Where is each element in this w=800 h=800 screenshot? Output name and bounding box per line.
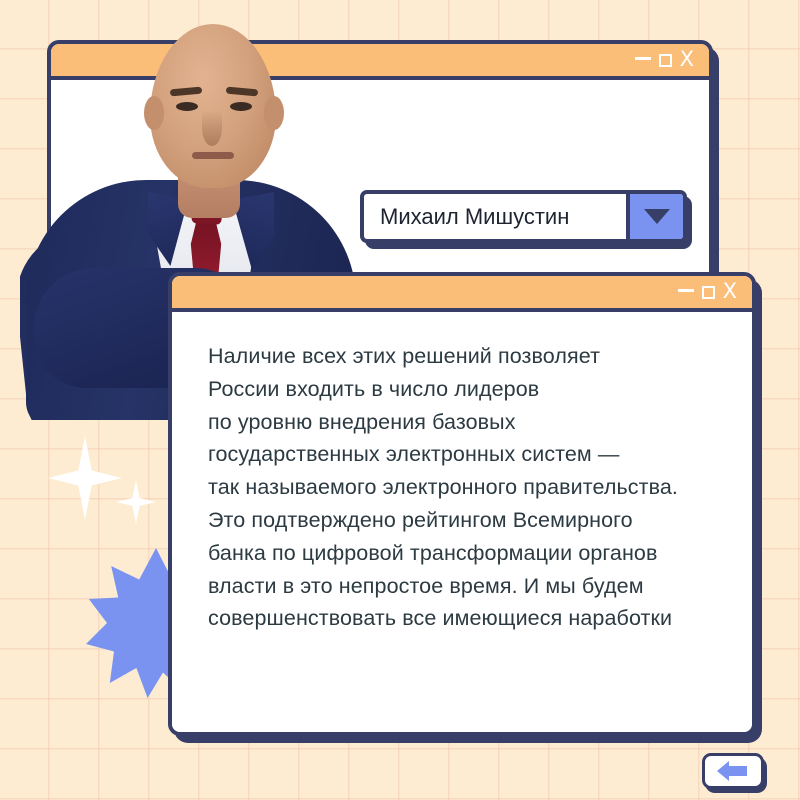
maximize-icon[interactable] <box>702 286 715 299</box>
back-button[interactable] <box>702 753 764 789</box>
minimize-icon[interactable] <box>678 289 694 292</box>
photo-window-titlebar: X <box>51 44 709 80</box>
back-button-frame[interactable] <box>702 753 764 789</box>
dropdown-frame[interactable]: Михаил Мишустин <box>360 190 687 243</box>
minimize-icon[interactable] <box>635 57 651 60</box>
close-icon[interactable]: X <box>680 49 695 70</box>
window-frame: X <box>47 40 713 310</box>
quote-text: Наличие всех этих решений позволяет Росс… <box>208 340 726 635</box>
dropdown-selected-value[interactable]: Михаил Мишустин <box>364 194 626 239</box>
window-controls[interactable]: X <box>678 283 738 302</box>
photo-window: X <box>47 40 713 310</box>
arrow-left-icon[interactable] <box>717 761 749 781</box>
dropdown-toggle-button[interactable] <box>626 194 683 239</box>
quote-window-body: Наличие всех этих решений позволяет Росс… <box>172 312 752 732</box>
chevron-down-icon[interactable] <box>644 209 670 224</box>
window-controls[interactable]: X <box>635 51 695 70</box>
close-icon[interactable]: X <box>723 281 738 302</box>
name-dropdown[interactable]: Михаил Мишустин <box>360 190 687 243</box>
window-frame: X Наличие всех этих решений позволяет Ро… <box>168 272 756 736</box>
quote-window: X Наличие всех этих решений позволяет Ро… <box>168 272 756 736</box>
quote-window-titlebar: X <box>172 276 752 312</box>
maximize-icon[interactable] <box>659 54 672 67</box>
